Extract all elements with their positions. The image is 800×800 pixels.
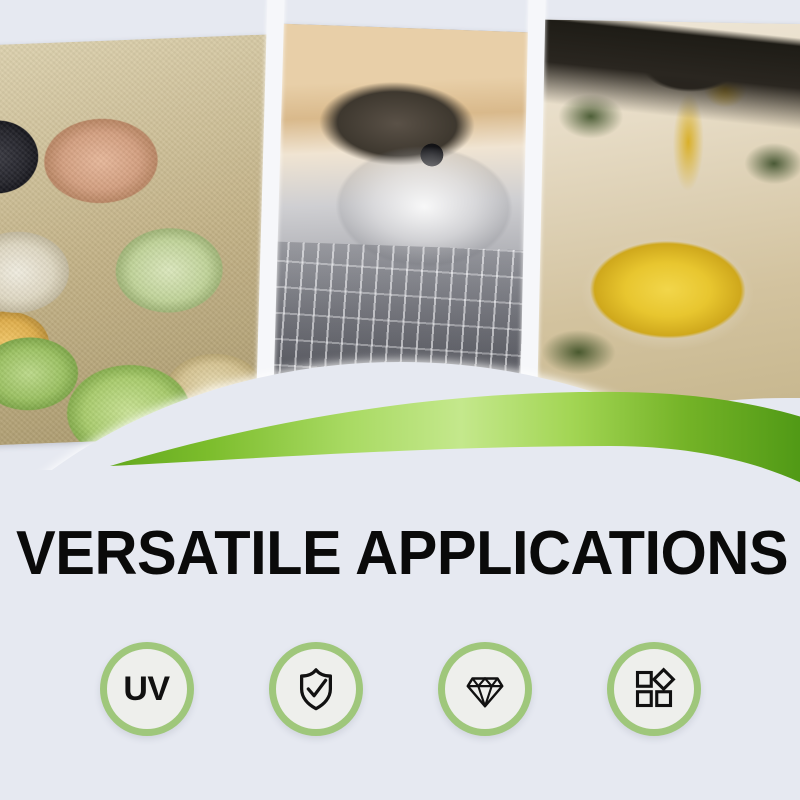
photo-collage <box>0 0 800 470</box>
diamond-gem-icon <box>462 666 508 712</box>
uv-text-icon: UV <box>123 672 169 706</box>
feature-badge-multi-use[interactable] <box>607 642 701 736</box>
page-title: VERSATILE APPLICATIONS <box>16 522 784 586</box>
grid-shapes-icon <box>632 667 676 711</box>
shield-check-icon <box>293 666 339 712</box>
feature-badge-protection[interactable] <box>269 642 363 736</box>
feature-badge-uv[interactable]: UV <box>100 642 194 736</box>
feature-icon-row: UV <box>0 641 800 737</box>
olive-oil-artwork <box>534 19 800 416</box>
feature-badge-premium[interactable] <box>438 642 532 736</box>
versatile-applications-banner: VERSATILE APPLICATIONS UV <box>0 0 800 800</box>
olive-oil-photo <box>534 19 800 416</box>
